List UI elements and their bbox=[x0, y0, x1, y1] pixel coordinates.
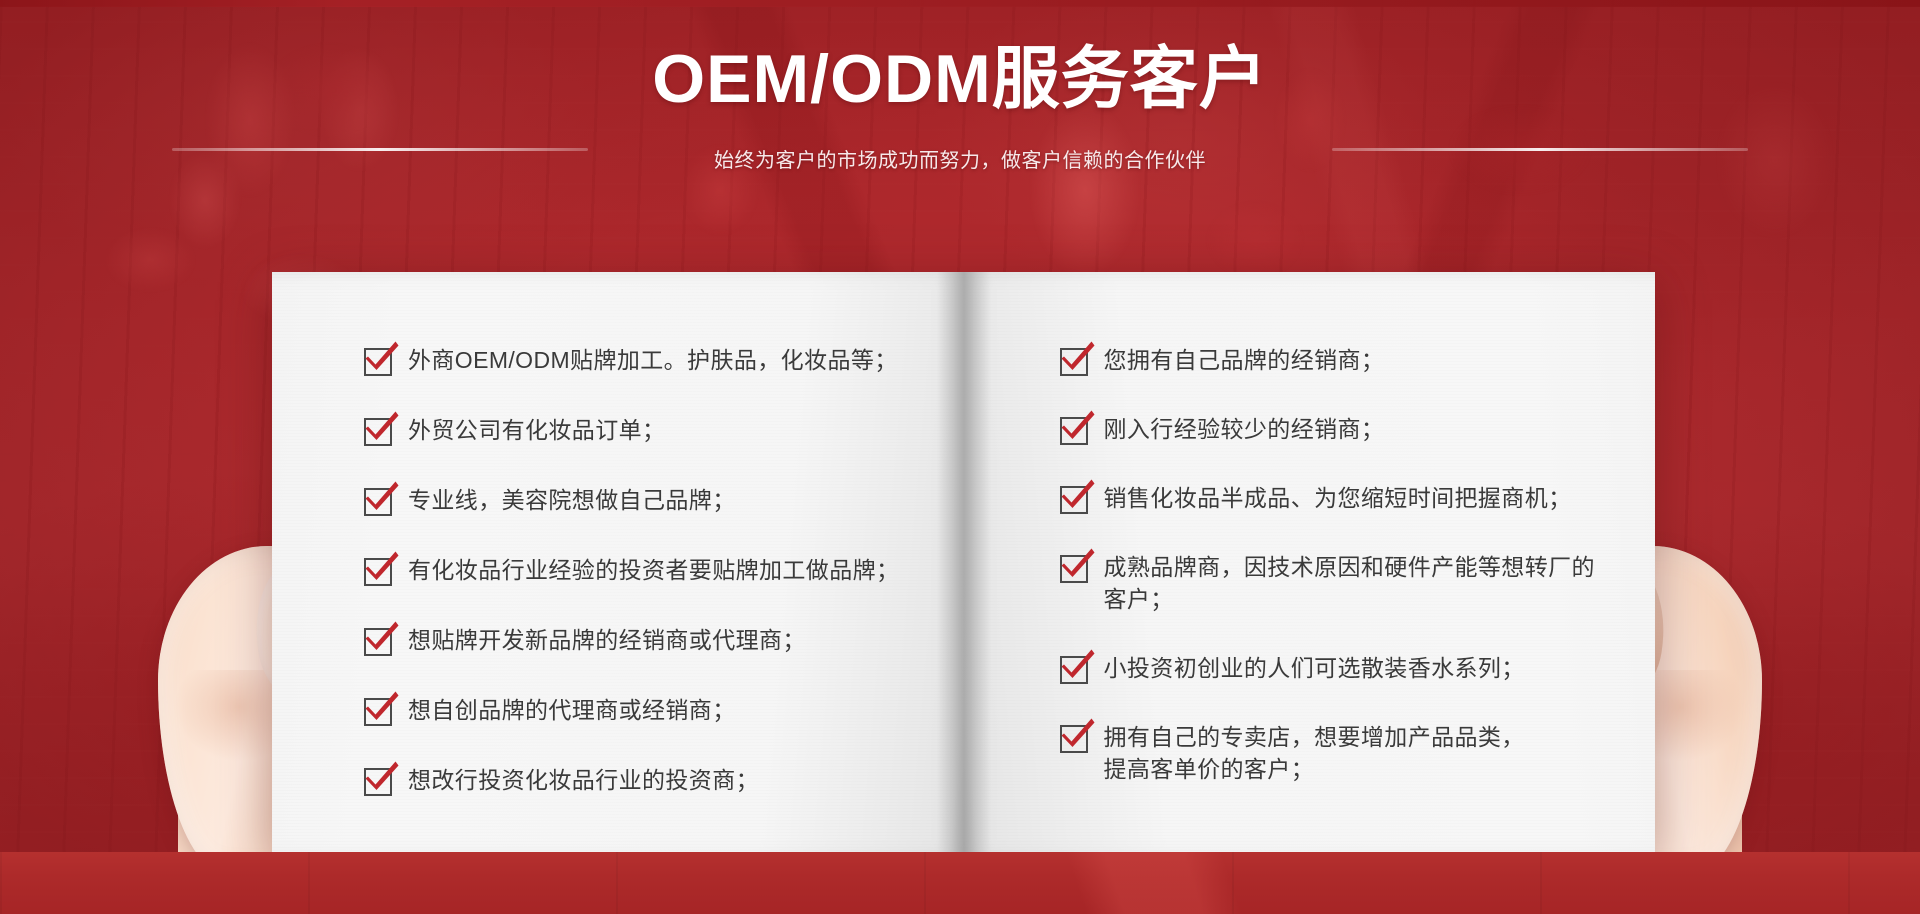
check-mark-icon bbox=[1061, 718, 1095, 748]
checklist-item: 专业线，美容院想做自己品牌； bbox=[364, 484, 922, 516]
checklist-item-label: 有化妆品行业经验的投资者要贴牌加工做品牌； bbox=[408, 554, 899, 586]
left-page-checklist: 外商OEM/ODM贴牌加工。护肤品，化妆品等；外贸公司有化妆品订单；专业线，美容… bbox=[272, 272, 964, 857]
checklist-item: 刚入行经验较少的经销商； bbox=[1060, 413, 1618, 445]
checklist-item: 想改行投资化妆品行业的投资商； bbox=[364, 764, 922, 796]
checklist-item-label: 想改行投资化妆品行业的投资商； bbox=[408, 764, 759, 796]
bottom-red-shelf bbox=[0, 852, 1920, 914]
checkbox-checked-icon bbox=[1060, 725, 1088, 753]
checklist-item: 外商OEM/ODM贴牌加工。护肤品，化妆品等； bbox=[364, 344, 922, 376]
checklist-item: 外贸公司有化妆品订单； bbox=[364, 414, 922, 446]
check-mark-icon bbox=[365, 621, 399, 651]
checkbox-checked-icon bbox=[1060, 348, 1088, 376]
checklist-item-label: 外商OEM/ODM贴牌加工。护肤品，化妆品等； bbox=[408, 344, 898, 376]
checklist-item-label: 销售化妆品半成品、为您缩短时间把握商机； bbox=[1104, 482, 1572, 514]
checklist-item-label: 拥有自己的专卖店，想要增加产品品类， 提高客单价的客户； bbox=[1104, 721, 1525, 785]
check-mark-icon bbox=[365, 341, 399, 371]
checklist-item: 想自创品牌的代理商或经销商； bbox=[364, 694, 922, 726]
oem-odm-banner: OEM/ODM服务客户 始终为客户的市场成功而努力，做客户信赖的合作伙伴 外商O… bbox=[0, 0, 1920, 914]
check-mark-icon bbox=[1061, 479, 1095, 509]
banner-header: OEM/ODM服务客户 始终为客户的市场成功而努力，做客户信赖的合作伙伴 bbox=[0, 0, 1920, 210]
checkbox-checked-icon bbox=[364, 558, 392, 586]
checklist-item-label: 您拥有自己品牌的经销商； bbox=[1104, 344, 1385, 376]
checkbox-checked-icon bbox=[364, 488, 392, 516]
checklist-item: 拥有自己的专卖店，想要增加产品品类， 提高客单价的客户； bbox=[1060, 721, 1618, 785]
check-mark-icon bbox=[1061, 548, 1095, 578]
checklist-item: 销售化妆品半成品、为您缩短时间把握商机； bbox=[1060, 482, 1618, 514]
checklist-item-label: 想贴牌开发新品牌的经销商或代理商； bbox=[408, 624, 806, 656]
check-mark-icon bbox=[1061, 341, 1095, 371]
checklist-item-label: 专业线，美容院想做自己品牌； bbox=[408, 484, 736, 516]
checkbox-checked-icon bbox=[364, 628, 392, 656]
book-right-page: 您拥有自己品牌的经销商；刚入行经验较少的经销商；销售化妆品半成品、为您缩短时间把… bbox=[964, 272, 1656, 857]
checkbox-checked-icon bbox=[1060, 417, 1088, 445]
check-mark-icon bbox=[365, 691, 399, 721]
checklist-item: 小投资初创业的人们可选散装香水系列； bbox=[1060, 652, 1618, 684]
checklist-item-label: 小投资初创业的人们可选散装香水系列； bbox=[1104, 652, 1525, 684]
checklist-item: 有化妆品行业经验的投资者要贴牌加工做品牌； bbox=[364, 554, 922, 586]
page-title: OEM/ODM服务客户 bbox=[0, 36, 1920, 122]
check-mark-icon bbox=[365, 481, 399, 511]
right-page-checklist: 您拥有自己品牌的经销商；刚入行经验较少的经销商；销售化妆品半成品、为您缩短时间把… bbox=[964, 272, 1656, 857]
checklist-item-label: 成熟品牌商，因技术原因和硬件产能等想转厂的客户； bbox=[1104, 551, 1618, 615]
book-left-page: 外商OEM/ODM贴牌加工。护肤品，化妆品等；外贸公司有化妆品订单；专业线，美容… bbox=[272, 272, 964, 857]
page-subtitle: 始终为客户的市场成功而努力，做客户信赖的合作伙伴 bbox=[0, 146, 1920, 176]
check-mark-icon bbox=[1061, 410, 1095, 440]
checklist-item: 成熟品牌商，因技术原因和硬件产能等想转厂的客户； bbox=[1060, 551, 1618, 615]
check-mark-icon bbox=[1061, 649, 1095, 679]
checklist-item: 您拥有自己品牌的经销商； bbox=[1060, 344, 1618, 376]
checkbox-checked-icon bbox=[364, 418, 392, 446]
checkbox-checked-icon bbox=[364, 348, 392, 376]
checkbox-checked-icon bbox=[1060, 486, 1088, 514]
checklist-item: 想贴牌开发新品牌的经销商或代理商； bbox=[364, 624, 922, 656]
check-mark-icon bbox=[365, 551, 399, 581]
check-mark-icon bbox=[365, 761, 399, 791]
checkbox-checked-icon bbox=[1060, 656, 1088, 684]
checklist-item-label: 刚入行经验较少的经销商； bbox=[1104, 413, 1385, 445]
check-mark-icon bbox=[365, 411, 399, 441]
open-book: 外商OEM/ODM贴牌加工。护肤品，化妆品等；外贸公司有化妆品订单；专业线，美容… bbox=[272, 272, 1655, 857]
checkbox-checked-icon bbox=[364, 698, 392, 726]
checkbox-checked-icon bbox=[364, 768, 392, 796]
checklist-item-label: 想自创品牌的代理商或经销商； bbox=[408, 694, 736, 726]
checklist-item-label: 外贸公司有化妆品订单； bbox=[408, 414, 665, 446]
checkbox-checked-icon bbox=[1060, 555, 1088, 583]
